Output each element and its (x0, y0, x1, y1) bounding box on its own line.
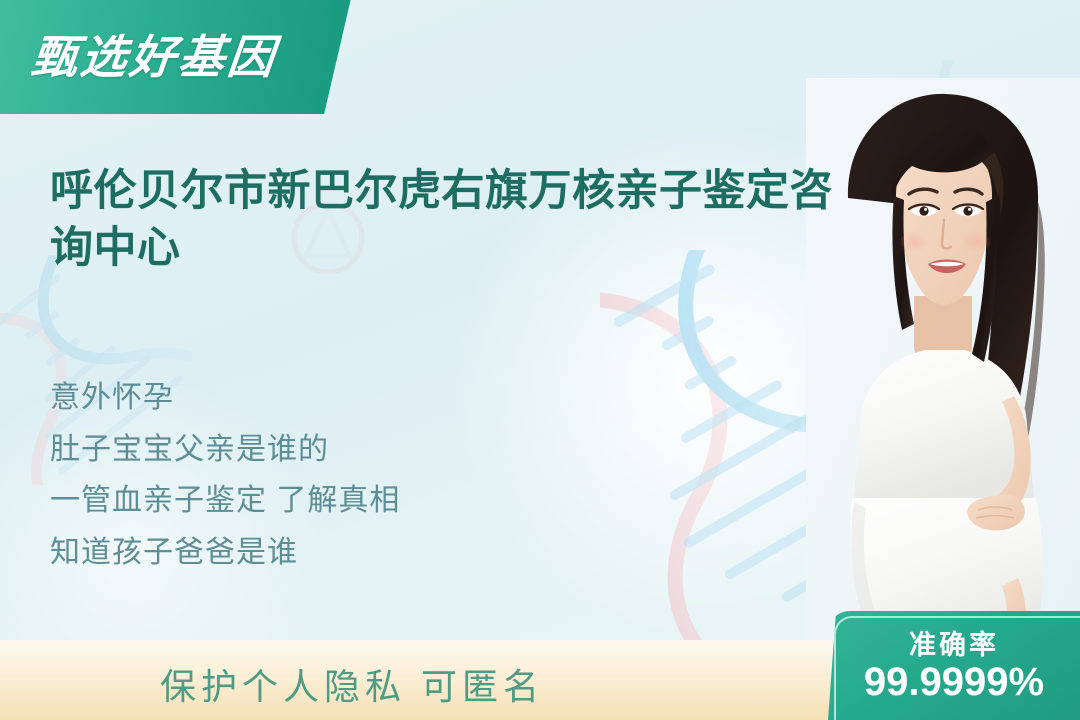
brand-ribbon: 甄选好基因 (0, 0, 352, 114)
brand-logo-text: 甄选好基因 (29, 21, 281, 87)
accuracy-badge-label: 准确率 (828, 623, 1080, 662)
accuracy-badge: 准确率 99.9999% (828, 611, 1080, 720)
benefit-copy-list: 意外怀孕 肚子宝宝父亲是谁的 一管血亲子鉴定 了解真相 知道孩子爸爸是谁 (50, 372, 400, 578)
benefit-copy-line: 知道孩子爸爸是谁 (50, 527, 400, 579)
benefit-copy-line: 一管血亲子鉴定 了解真相 (50, 475, 400, 527)
promo-poster: 甄选好基因 呼伦贝尔市新巴尔虎右旗万核亲子鉴定咨询中心 意外怀孕 肚子宝宝父亲是… (0, 0, 1080, 720)
benefit-copy-line: 肚子宝宝父亲是谁的 (50, 424, 400, 476)
privacy-band-text: 保护个人隐私 可匿名 (160, 658, 544, 710)
benefit-copy-line: 意外怀孕 (50, 372, 400, 424)
page-title: 呼伦贝尔市新巴尔虎右旗万核亲子鉴定咨询中心 (50, 163, 860, 277)
accuracy-badge-value: 99.9999% (828, 660, 1080, 705)
